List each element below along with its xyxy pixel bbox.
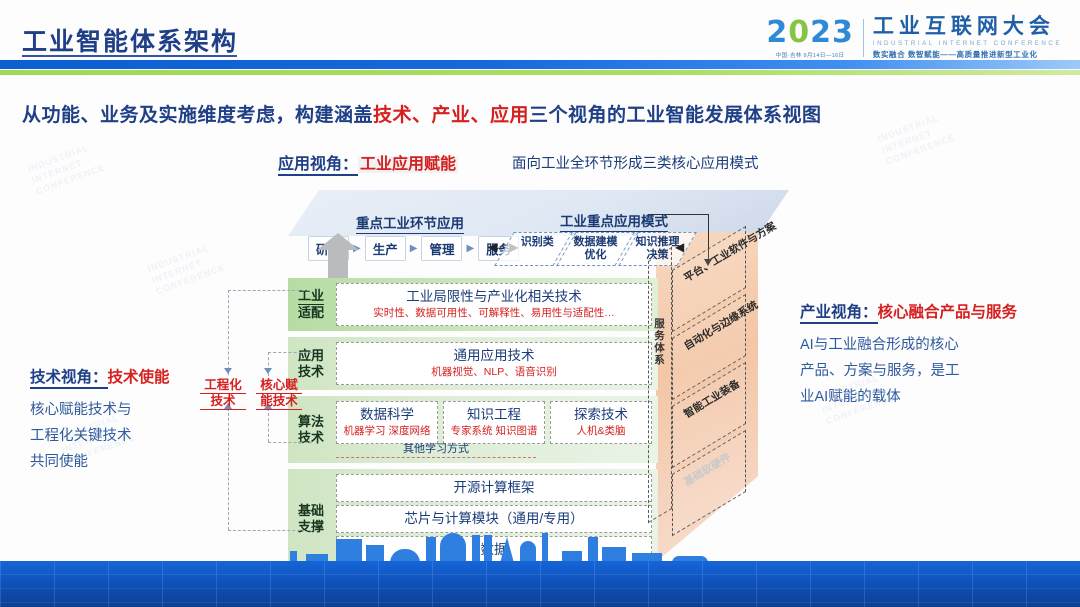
row-label-industrial-adaptation: 工业 适配 [288, 278, 334, 331]
technology-view-line: 核心赋能技术与 [30, 397, 240, 423]
card-industrial-limits[interactable]: 工业局限性与产业化相关技术 实时性、数据可用性、可解释性、易用性与适配性… [336, 283, 652, 326]
city-skyline [280, 527, 800, 563]
connector-core-bottom [268, 442, 312, 443]
page-title: 工业智能体系架构 [22, 22, 238, 58]
subtitle-part1: 从功能、业务及实施维度考虑，构建涵盖 [22, 105, 373, 126]
algorithm-cards: 数据科学 机器学习 深度网络 知识工程 专家系统 知识图谱 探索技术 人机&类脑 [336, 401, 652, 444]
row-body: 工业局限性与产业化相关技术 实时性、数据可用性、可解释性、易用性与适配性… [334, 278, 658, 331]
connector-core-bottom-left [268, 408, 269, 442]
watermark: INDUSTRIAL INTERNET CONFERENCE [876, 109, 957, 168]
subtitle-part2: 三个视角的工业智能发展体系视图 [529, 105, 822, 126]
logo-year: 2023 [766, 18, 854, 48]
row-algorithm-technology: 算法 技术 数据科学 机器学习 深度网络 知识工程 专家系统 知识图谱 [288, 396, 658, 463]
chevron-right-icon: ▶ [466, 243, 474, 254]
tag-core-enabling-technology[interactable]: 核心赋 能技术 [256, 378, 302, 410]
footer-grid-pattern [0, 561, 1080, 607]
card-general-application-tech[interactable]: 通用应用技术 机器视觉、NLP、语音识别 [336, 342, 652, 385]
card-exploratory-technology[interactable]: 探索技术 人机&类脑 [550, 401, 652, 444]
watermark: INDUSTRIAL INTERNET CONFERENCE [26, 139, 107, 198]
footer-band [0, 561, 1080, 607]
header-key-industry-links: 重点工业环节应用 [356, 212, 464, 234]
row-body: 通用应用技术 机器视觉、NLP、语音识别 [334, 337, 658, 390]
logo-year-block: 2023 中国·吉林 9月14日—16日 [766, 18, 854, 59]
application-view-note: 面向工业全环节形成三类核心应用模式 [512, 152, 759, 173]
connector-engineering-left [228, 290, 229, 375]
conference-logo: 2023 中国·吉林 9月14日—16日 工业互联网大会 INDUSTRIAL … [766, 16, 1062, 60]
card-knowledge-engineering[interactable]: 知识工程 专家系统 知识图谱 [443, 401, 545, 444]
industry-layer-labels: 平台、工业软件与方案 自动化与边缘系统 智能工业装备 基础软硬件 [664, 242, 774, 552]
logo-date: 中国·吉林 9月14日—16日 [776, 51, 845, 59]
row-application-technology: 应用 技术 通用应用技术 机器视觉、NLP、语音识别 [288, 337, 658, 390]
industry-view-line: 产品、方案与服务，是工 [800, 358, 1065, 384]
card-open-source-framework[interactable]: 开源计算框架 [336, 474, 652, 502]
row-industrial-adaptation: 工业 适配 工业局限性与产业化相关技术 实时性、数据可用性、可解释性、易用性与适… [288, 278, 658, 331]
application-view-heading: 应用视角：工业应用赋能 [278, 150, 458, 174]
industry-view-heading: 产业视角：核心融合产品与服务 [800, 300, 1065, 322]
arrow-down-icon [264, 368, 272, 374]
subtitle: 从功能、业务及实施维度考虑，构建涵盖技术、产业、应用三个视角的工业智能发展体系视… [22, 100, 822, 127]
card-data-science[interactable]: 数据科学 机器学习 深度网络 [336, 401, 438, 444]
application-view-label: 应用视角： [278, 156, 358, 176]
chip-production[interactable]: 生产 [365, 236, 406, 261]
industry-view-body: AI与工业融合形成的核心 产品、方案与服务，是工 业AI赋能的载体 [800, 332, 1065, 410]
logo-name-en: INDUSTRIAL INTERNET CONFERENCE [873, 40, 1062, 47]
chevron-right-icon: ▶ [410, 243, 418, 254]
logo-name-cn: 工业互联网大会 [873, 16, 1062, 38]
header-green-bar [0, 70, 1080, 75]
industry-view-label: 产业视角： [800, 304, 878, 324]
title-underline [22, 55, 237, 57]
technology-view-label: 技术视角： [30, 369, 108, 389]
technology-view-line: 工程化关键技术 [30, 423, 240, 449]
technology-view-block: 技术视角：技术使能 核心赋能技术与 工程化关键技术 共同使能 [30, 365, 240, 475]
industry-view-line: 业AI赋能的载体 [800, 384, 1065, 410]
logo-divider [863, 19, 864, 57]
logo-text-block: 工业互联网大会 INDUSTRIAL INTERNET CONFERENCE 数… [873, 16, 1062, 60]
connector-core-top [268, 352, 312, 353]
industry-view-highlight: 核心融合产品与服务 [878, 304, 1018, 321]
row-body: 数据科学 机器学习 深度网络 知识工程 专家系统 知识图谱 探索技术 人机&类脑… [334, 396, 658, 463]
logo-slogan: 数实融合 数智赋能——高质量推进新型工业化 [873, 49, 1062, 60]
technology-view-highlight: 技术使能 [108, 369, 170, 386]
industry-view-line: AI与工业融合形成的核心 [800, 332, 1065, 358]
subtitle-highlight: 技术、产业、应用 [373, 105, 529, 126]
chip-management[interactable]: 管理 [421, 236, 462, 261]
industry-view-block: 产业视角：核心融合产品与服务 AI与工业融合形成的核心 产品、方案与服务，是工 … [800, 300, 1065, 410]
technology-view-body: 核心赋能技术与 工程化关键技术 共同使能 [30, 397, 240, 475]
technology-view-heading: 技术视角：技术使能 [30, 365, 240, 387]
slide-root: INDUSTRIAL INTERNET CONFERENCE INDUSTRIA… [0, 0, 1080, 607]
technology-view-line: 共同使能 [30, 449, 240, 475]
connector-engineering-top [228, 290, 310, 291]
header-blue-bar [0, 60, 1080, 69]
application-view-highlight: 工业应用赋能 [358, 156, 458, 173]
